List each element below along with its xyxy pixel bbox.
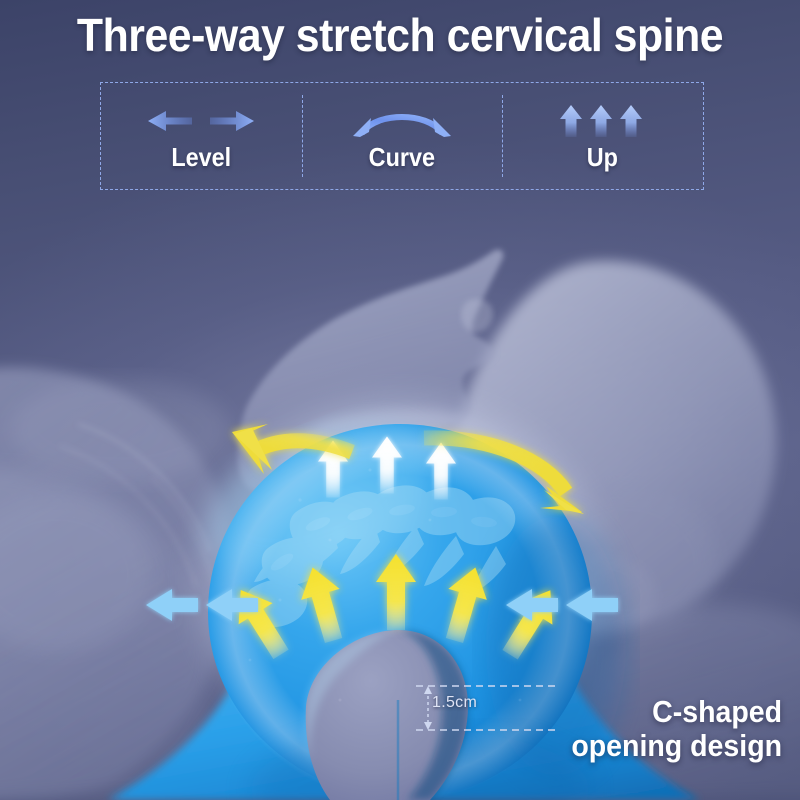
curved-double-arrow-icon xyxy=(347,104,457,138)
feature-item-level[interactable]: Level xyxy=(101,83,302,189)
product-infographic: 1.5cm Three-way stretch cervical spine xyxy=(0,0,800,800)
caption-line-2: opening design xyxy=(571,729,782,762)
caption-line-1: C-shaped xyxy=(571,695,782,728)
triple-up-arrow-icon xyxy=(555,104,651,138)
caption-block: C-shaped opening design xyxy=(571,695,782,762)
horizontal-double-arrow-icon xyxy=(146,104,256,138)
feature-label-up: Up xyxy=(587,142,618,173)
feature-legend-box: Level Curve xyxy=(100,82,704,190)
feature-item-curve[interactable]: Curve xyxy=(302,83,503,189)
feature-label-level: Level xyxy=(171,142,231,173)
measurement-label: 1.5cm xyxy=(432,694,477,712)
feature-item-up[interactable]: Up xyxy=(502,83,703,189)
feature-label-curve: Curve xyxy=(369,142,435,173)
page-title: Three-way stretch cervical spine xyxy=(28,8,772,62)
